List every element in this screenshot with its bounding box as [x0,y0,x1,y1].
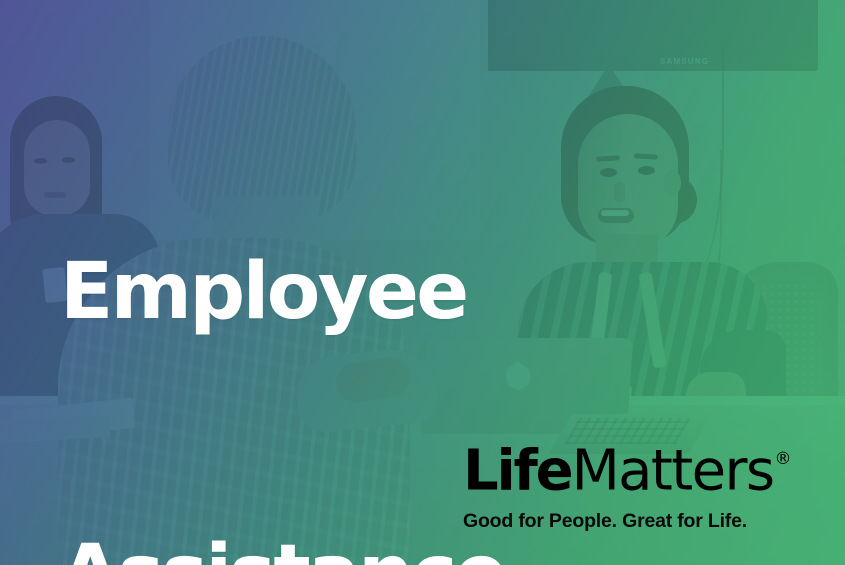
logo-tagline: Good for People. Great for Life. [463,510,819,533]
eap-hero-banner: SAMSUNG [0,0,845,565]
logo-wordmark: LifeMatters® [463,436,819,501]
lifematters-logo: LifeMatters® Good for People. Great for … [463,436,819,533]
logo-word-life: Life [463,439,571,504]
headline-line-1: Employee [60,245,505,339]
headline-line-2: Assistance [60,527,505,565]
logo-word-matters: Matters [571,439,773,504]
registered-trademark-icon: ® [774,449,791,469]
page-title: Employee Assistance Program [60,57,505,565]
